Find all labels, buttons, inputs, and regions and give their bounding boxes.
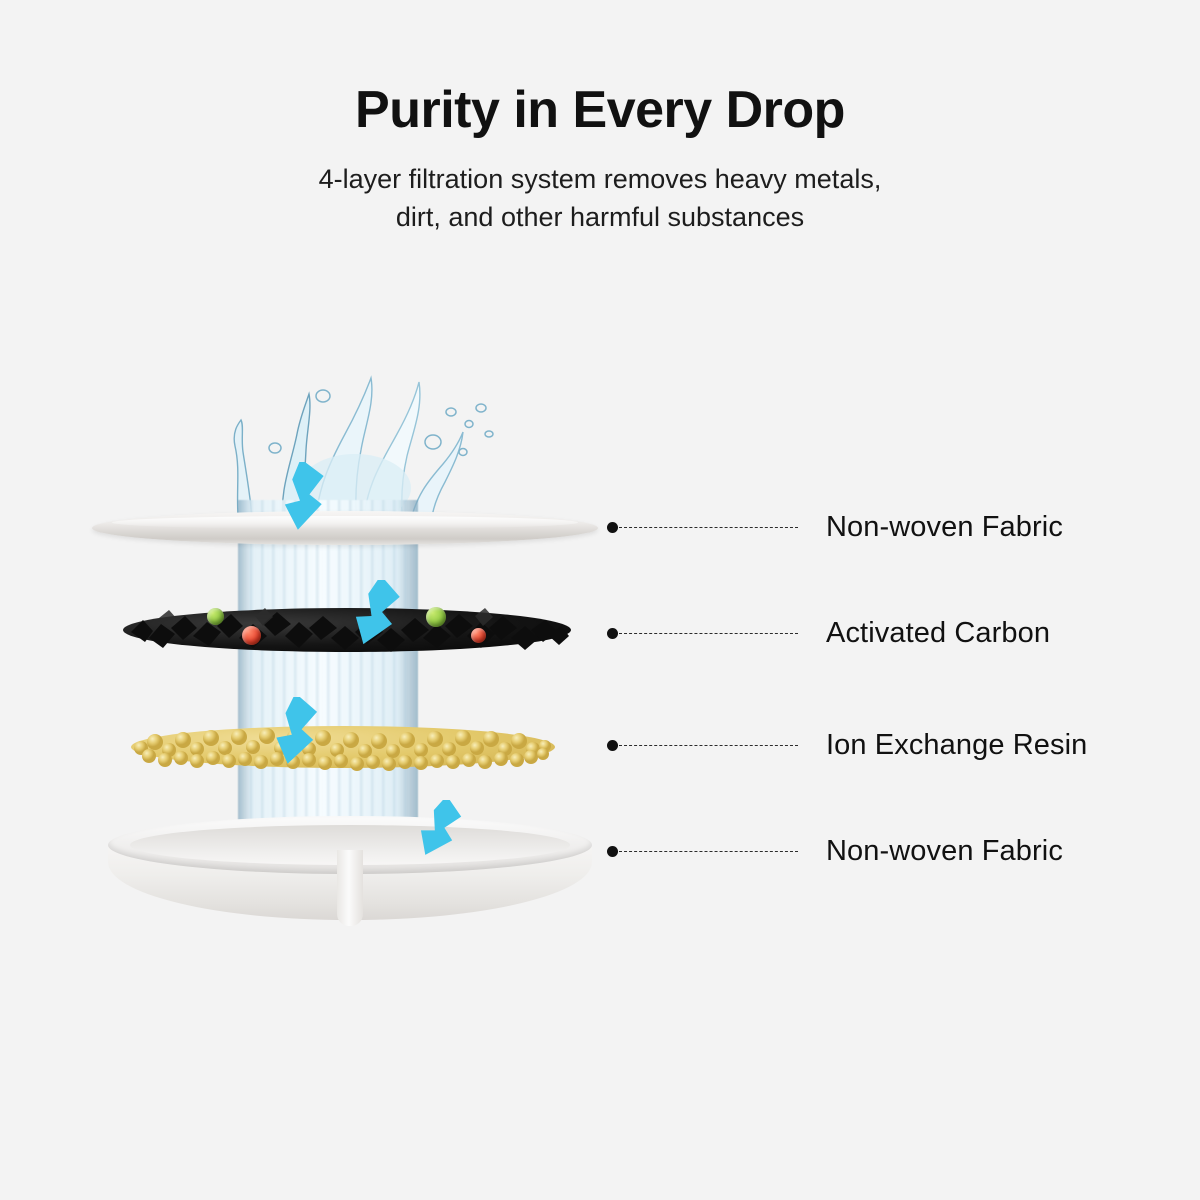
callout-non-woven-fabric-bottom[interactable]: Non-woven Fabric [607, 831, 1063, 871]
callout-label: Non-woven Fabric [826, 511, 1063, 544]
callout-non-woven-fabric-top[interactable]: Non-woven Fabric [607, 507, 1063, 547]
callout-leader-line [619, 745, 798, 746]
callout-leader-line [619, 527, 798, 528]
callout-bullet-icon [607, 740, 618, 751]
callout-leader-line [619, 633, 798, 634]
callout-label: Non-woven Fabric [826, 835, 1063, 868]
callout-list: Non-woven Fabric Activated Carbon Ion Ex… [0, 0, 1200, 1200]
callout-bullet-icon [607, 846, 618, 857]
callout-ion-exchange-resin[interactable]: Ion Exchange Resin [607, 725, 1087, 765]
callout-leader-line [619, 851, 798, 852]
callout-bullet-icon [607, 522, 618, 533]
callout-label: Ion Exchange Resin [826, 729, 1087, 762]
callout-activated-carbon[interactable]: Activated Carbon [607, 613, 1050, 653]
callout-label: Activated Carbon [826, 617, 1050, 650]
callout-bullet-icon [607, 628, 618, 639]
